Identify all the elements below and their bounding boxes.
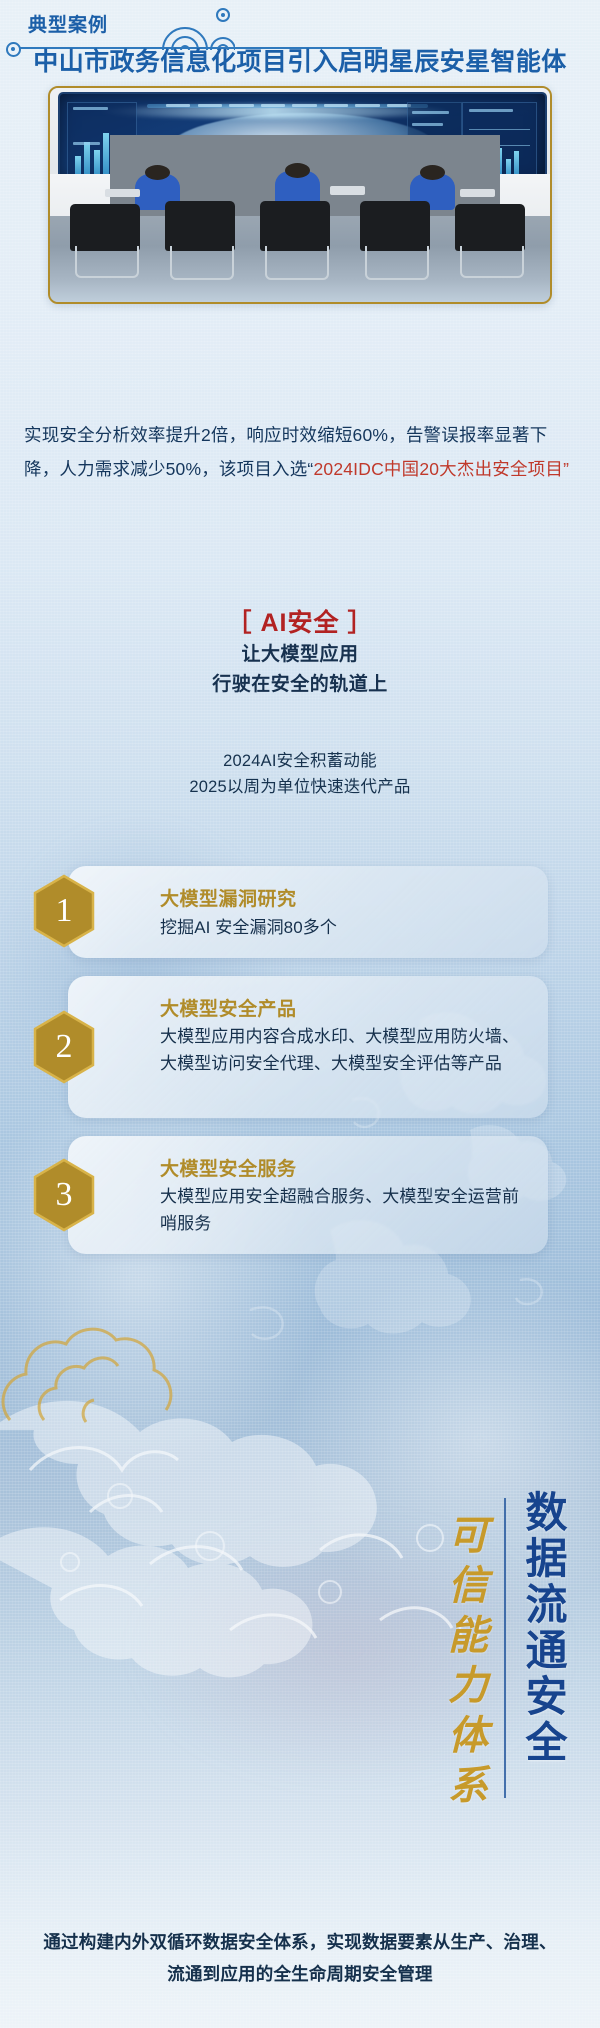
step-number-badge: 2 [32, 1010, 96, 1084]
vertical-headline-blue: 数据流通安全 [520, 1490, 566, 1766]
ai-note-line-2: 2025以周为单位快速迭代产品 [0, 774, 600, 800]
gold-cloud-ornament [0, 1270, 240, 1470]
list-item[interactable]: 大模型漏洞研究 挖掘AI 安全漏洞80多个 [68, 866, 548, 958]
list-item[interactable]: 大模型安全服务 大模型应用安全超融合服务、大模型安全运营前哨服务 [68, 1136, 548, 1254]
badge-label: 典型案例 [28, 14, 108, 38]
case-paragraph: 实现安全分析效率提升2倍，响应时效缩短60%，告警误报率显著下降，人力需求减少5… [24, 418, 576, 486]
case-text-after: ” [563, 459, 569, 479]
vertical-headline: 数据流通安全 可信能力体系 [300, 1490, 580, 1910]
step-number: 3 [32, 1158, 96, 1232]
card-body: 大模型应用安全超融合服务、大模型安全运营前哨服务 [160, 1183, 532, 1237]
card-title: 大模型安全服务 [160, 1154, 297, 1181]
command-center-photo [48, 86, 552, 304]
vertical-divider [504, 1498, 506, 1798]
ai-security-subtitle: 让大模型应用 行驶在安全的轨道上 [0, 640, 600, 700]
header: 典型案例 中山市政务信息化项目引入启明星辰安星智能体 [0, 0, 600, 78]
ai-security-tag: ［ AI安全 ］ [0, 603, 600, 639]
step-number: 1 [32, 874, 96, 948]
poster-page: 典型案例 中山市政务信息化项目引入启明星辰安星智能体 [0, 0, 600, 2028]
ai-subtitle-line-2: 行驶在安全的轨道上 [0, 670, 600, 700]
step-number-badge: 1 [32, 874, 96, 948]
list-item[interactable]: 大模型安全产品 大模型应用内容合成水印、大模型应用防火墙、大模型访问安全代理、大… [68, 976, 548, 1118]
ai-security-note: 2024AI安全积蓄动能 2025以周为单位快速迭代产品 [0, 748, 600, 800]
footer-paragraph: 通过构建内外双循环数据安全体系，实现数据要素从生产、治理、流通到应用的全生命周期… [40, 1926, 560, 1990]
step-number-badge: 3 [32, 1158, 96, 1232]
page-title: 中山市政务信息化项目引入启明星辰安星智能体 [0, 42, 600, 78]
case-highlight: 2024IDC中国20大杰出安全项目 [313, 459, 563, 479]
card-body: 大模型应用内容合成水印、大模型应用防火墙、大模型访问安全代理、大模型安全评估等产… [160, 1023, 532, 1077]
step-number: 2 [32, 1010, 96, 1084]
ai-note-line-1: 2024AI安全积蓄动能 [0, 748, 600, 774]
card-title: 大模型漏洞研究 [160, 884, 297, 911]
card-title: 大模型安全产品 [160, 994, 297, 1021]
vertical-headline-gold: 可信能力体系 [438, 1514, 490, 1814]
ai-subtitle-line-1: 让大模型应用 [0, 640, 600, 670]
card-body: 挖掘AI 安全漏洞80多个 [160, 914, 532, 941]
